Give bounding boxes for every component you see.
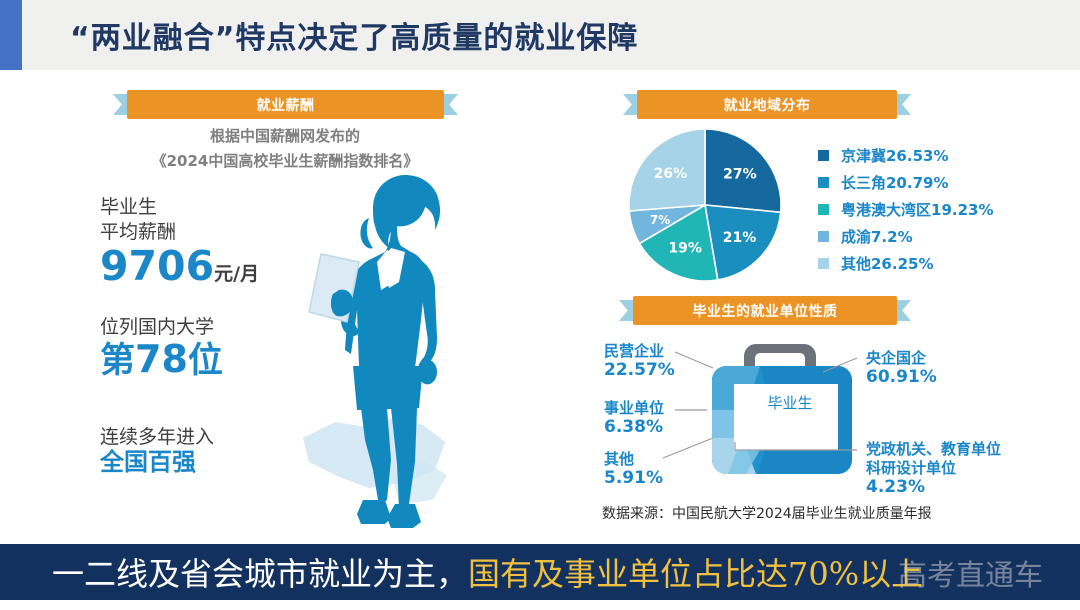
employer-label-gov-name2: 科研设计单位 <box>866 459 1001 478</box>
section-header-employer: 毕业生的就业单位性质 <box>619 296 911 325</box>
legend-item[interactable]: 粤港澳大湾区19.23% <box>818 196 993 223</box>
bottom-banner-text-white: 一二线及省会城市就业为主， <box>52 555 468 593</box>
stat-salary-value: 9706 <box>100 242 214 290</box>
legend-swatch-icon <box>818 150 829 161</box>
ribbon-label: 就业薪酬 <box>257 95 315 115</box>
salary-source-text: 根据中国薪酬网发布的 《2024中国高校毕业生薪酬指数排名》 <box>100 124 470 174</box>
page-title: “两业融合”特点决定了高质量的就业保障 <box>70 13 638 57</box>
header-accent-bar <box>0 0 22 70</box>
ribbon-body: 就业地域分布 <box>637 90 897 119</box>
employer-label-public-value: 6.38% <box>604 418 664 437</box>
region-pie-chart: 27%21%19%7%26% <box>620 126 790 284</box>
employer-label-soe: 央企国企 60.91% <box>866 349 937 387</box>
legend-item-label: 成渝7.2% <box>841 226 913 247</box>
employer-label-other: 其他 5.91% <box>604 450 663 488</box>
salary-source-line1: 根据中国薪酬网发布的 <box>100 124 470 149</box>
bottom-banner-text-gold: 国有及事业单位占比达70%以上 <box>468 555 923 593</box>
briefcase-icon <box>698 338 883 488</box>
legend-item[interactable]: 长三角20.79% <box>818 169 993 196</box>
stat-salary-value-row: 9706元/月 <box>100 245 259 288</box>
businesswoman-silhouette-icon <box>295 170 565 535</box>
pie-slice-label: 26% <box>654 166 688 182</box>
legend-item-label: 京津冀26.53% <box>841 145 948 166</box>
ribbon-label: 毕业生的就业单位性质 <box>693 301 838 321</box>
ribbon-body: 毕业生的就业单位性质 <box>633 296 897 325</box>
pie-slice-label: 19% <box>668 241 702 257</box>
pie-slice-label: 7% <box>650 213 670 227</box>
legend-item[interactable]: 京津冀26.53% <box>818 142 993 169</box>
employer-label-government: 党政机关、教育单位 科研设计单位 4.23% <box>866 440 1001 497</box>
stat-rank-value-row: 第78位 <box>100 340 223 380</box>
legend-item[interactable]: 其他26.25% <box>818 250 993 277</box>
employer-label-private-name: 民营企业 <box>604 342 675 361</box>
employer-label-soe-value: 60.91% <box>866 368 937 387</box>
employer-label-public-institution: 事业单位 6.38% <box>604 399 664 437</box>
employer-label-other-value: 5.91% <box>604 469 663 488</box>
legend-item-label: 其他26.25% <box>841 253 933 274</box>
stat-salary-unit: 元/月 <box>214 263 259 285</box>
legend-item-label: 粤港澳大湾区19.23% <box>841 199 993 220</box>
pie-slice-label: 27% <box>723 166 757 182</box>
employer-label-gov-value: 4.23% <box>866 478 1001 497</box>
region-pie-legend: 京津冀26.53%长三角20.79%粤港澳大湾区19.23%成渝7.2%其他26… <box>818 142 993 277</box>
section-header-salary: 就业薪酬 <box>113 90 458 119</box>
slide-root: “两业融合”特点决定了高质量的就业保障 就业薪酬 根据中国薪酬网发布的 《202… <box>0 0 1080 610</box>
legend-swatch-icon <box>818 204 829 215</box>
data-source-note: 数据来源：中国民航大学2024届毕业生就业质量年报 <box>602 503 932 523</box>
stat-top100-value: 全国百强 <box>100 450 214 475</box>
ribbon-body: 就业薪酬 <box>127 90 444 119</box>
employer-label-private: 民营企业 22.57% <box>604 342 675 380</box>
employer-label-private-value: 22.57% <box>604 361 675 380</box>
briefcase-center-label: 毕业生 <box>735 392 845 413</box>
ribbon-label: 就业地域分布 <box>724 95 811 115</box>
employer-label-soe-name: 央企国企 <box>866 349 937 368</box>
stat-rank-suffix: 位 <box>188 341 223 381</box>
stat-average-salary: 毕业生 平均薪酬 9706元/月 <box>100 195 259 288</box>
stat-national-rank: 位列国内大学 第78位 <box>100 315 223 380</box>
pie-slice-label: 21% <box>723 230 757 246</box>
employer-label-public-name: 事业单位 <box>604 399 664 418</box>
stat-top100-label: 连续多年进入 <box>100 425 214 450</box>
stat-rank-prefix: 第 <box>100 341 135 381</box>
section-header-region: 就业地域分布 <box>623 90 911 119</box>
legend-swatch-icon <box>818 231 829 242</box>
watermark-text: 高考直通车 <box>898 552 1043 594</box>
legend-swatch-icon <box>818 258 829 269</box>
bottom-banner-text: 一二线及省会城市就业为主，国有及事业单位占比达70%以上 <box>52 549 923 595</box>
legend-item-label: 长三角20.79% <box>841 172 948 193</box>
legend-swatch-icon <box>818 177 829 188</box>
legend-item[interactable]: 成渝7.2% <box>818 223 993 250</box>
stat-rank-value: 78 <box>135 337 188 381</box>
employer-label-other-name: 其他 <box>604 450 663 469</box>
employer-label-gov-name: 党政机关、教育单位 <box>866 440 1001 459</box>
stat-top100: 连续多年进入 全国百强 <box>100 425 214 475</box>
stat-salary-label-1: 毕业生 <box>100 195 259 220</box>
